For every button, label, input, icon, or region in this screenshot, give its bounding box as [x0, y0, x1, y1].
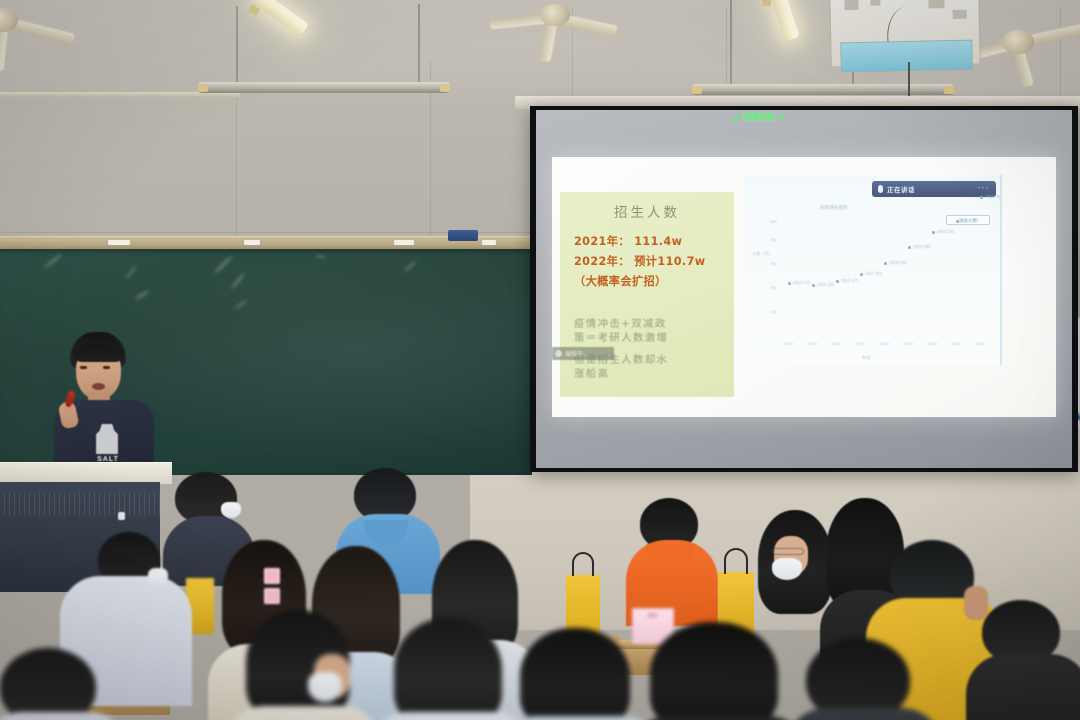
hair-clip — [264, 568, 280, 584]
data-point — [980, 196, 983, 199]
data-point — [908, 246, 911, 249]
xtick-2015: 2015 — [808, 341, 817, 346]
data-point — [788, 282, 791, 285]
ceiling-fan — [980, 16, 1080, 78]
chart-xlabel: 年份 — [862, 355, 870, 361]
presenter-mouth — [92, 383, 105, 390]
ceiling-fan — [0, 0, 90, 54]
data-point-label: 2017 201 — [865, 271, 882, 276]
slide-bullet-note: （大概率会扩招） — [574, 273, 667, 289]
presenter-eye-left — [80, 366, 87, 369]
xtick-2014: 2014 — [784, 341, 793, 346]
data-point-label: 2019 290 — [913, 244, 930, 249]
data-point — [836, 280, 839, 283]
data-point-label: 2021 377 — [961, 218, 978, 223]
data-point-label: 2022 457 — [985, 194, 1002, 199]
data-point-label: 2016 177 — [841, 278, 858, 283]
app-icon — [555, 350, 562, 357]
data-point — [956, 220, 959, 223]
data-point — [884, 262, 887, 265]
chart-ylabel: 人数（万） — [752, 251, 773, 257]
gift-bag-handle — [572, 552, 594, 576]
data-point-label: 2018 238 — [889, 260, 906, 265]
screen-cast-status-bar: 屏幕共享 — [732, 112, 784, 122]
chart-annotation: 历年增长趋势 — [820, 205, 848, 211]
xtick-2020: 2020 — [928, 341, 937, 346]
slide-bullet-2021: 2021年： 111.4w — [574, 233, 682, 249]
presenter-fringe — [73, 344, 124, 362]
speaking-label: 正在讲话 — [887, 184, 915, 194]
blackboard-eraser — [448, 230, 478, 241]
data-point — [932, 231, 935, 234]
placard-text: 招生 — [633, 612, 673, 619]
slide-title: 招生人数 — [560, 201, 734, 221]
data-point-label: 2014 172 — [793, 280, 810, 285]
xtick-2022: 2022 — [976, 341, 985, 346]
cast-status-label: 屏幕共享 — [742, 112, 777, 122]
xtick-2016: 2016 — [832, 341, 841, 346]
ceiling-projector — [829, 0, 981, 68]
hair-clip — [264, 588, 280, 604]
gift-bag-handle — [724, 548, 748, 574]
overflow-dots-icon: ••• — [978, 186, 990, 192]
podium-slats — [0, 492, 160, 516]
chalk-tray — [0, 236, 532, 250]
enrollment-scatter-chart: 正在讲话 ••• 报名人数 历年增长趋势 人数（万） 年份 500 400 30… — [744, 175, 1002, 365]
data-point-label: 2020 341 — [937, 229, 954, 234]
presenter-eye-right — [103, 366, 110, 369]
slide-note-line-1: 疫情冲击+双减政 — [574, 317, 667, 331]
xtick-2018: 2018 — [880, 341, 889, 346]
podium-marker — [118, 512, 125, 520]
projection-screen: 屏幕共享 招生人数 2021年： 111.4w 2022年： 预计110.7w … — [536, 110, 1072, 468]
data-point — [860, 273, 863, 276]
microphone-icon — [878, 185, 883, 193]
podium-surface — [0, 462, 172, 484]
slide-taskbar-label: 编辑中... — [565, 349, 588, 358]
slide-bullet-2022: 2022年： 预计110.7w — [574, 253, 706, 269]
xtick-2019: 2019 — [904, 341, 913, 346]
signal-bars-icon — [732, 114, 739, 121]
data-point — [812, 284, 815, 287]
presenter: SALT — [48, 332, 168, 472]
ceiling-fan — [500, 0, 630, 48]
slide-note-line-2: 策＝考研人数激增 — [574, 331, 668, 345]
data-point-label: 2015 165 — [817, 282, 834, 287]
xtick-2021: 2021 — [952, 341, 961, 346]
presentation-slide: 招生人数 2021年： 111.4w 2022年： 预计110.7w （大概率会… — [552, 157, 1056, 417]
xtick-2017: 2017 — [856, 341, 865, 346]
slide-taskbar[interactable]: 编辑中... — [552, 347, 614, 360]
battery-icon — [780, 115, 784, 119]
classroom-scene: 屏幕共享 招生人数 2021年： 111.4w 2022年： 预计110.7w … — [0, 0, 1080, 720]
chart-speaking-banner: 正在讲话 ••• — [872, 181, 996, 197]
slide-note-line-4: 涨船高 — [574, 367, 609, 381]
